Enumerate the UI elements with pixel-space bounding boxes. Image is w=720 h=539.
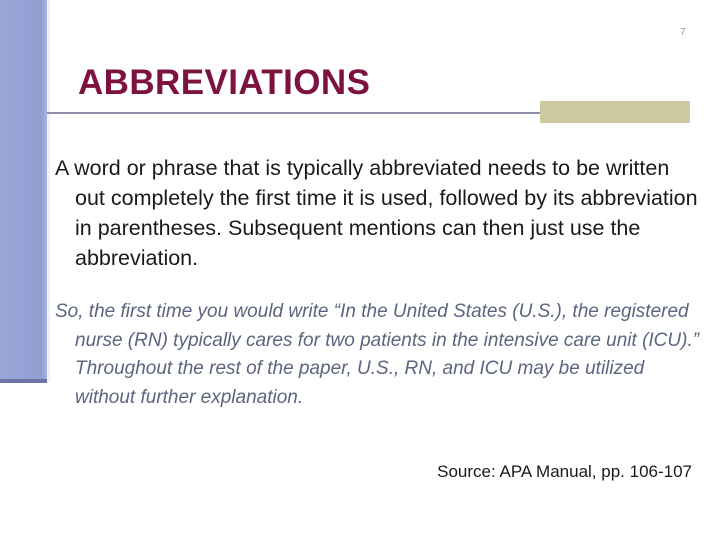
left-accent-bar — [0, 0, 47, 382]
slide-number: 7 — [680, 27, 686, 38]
body-paragraph: A word or phrase that is typically abbre… — [55, 153, 700, 273]
slide-canvas: 7 ABBREVIATIONS A word or phrase that is… — [0, 0, 720, 539]
example-note-paragraph: So, the first time you would write “In t… — [55, 298, 700, 412]
source-citation: Source: APA Manual, pp. 106-107 — [437, 462, 692, 482]
page-title: ABBREVIATIONS — [78, 65, 370, 102]
left-accent-bar-cap — [0, 379, 47, 383]
title-divider-accent-block — [540, 101, 690, 123]
left-accent-bar-edge — [47, 0, 50, 382]
